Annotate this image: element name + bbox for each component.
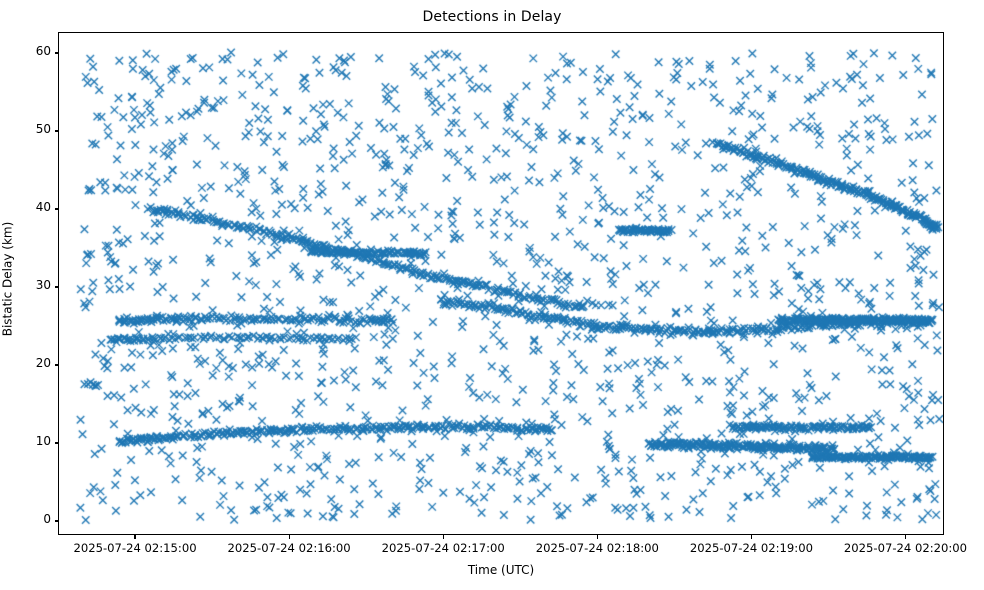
- plot-axes: [58, 32, 944, 535]
- y-tick-mark: [55, 286, 59, 287]
- chart-title: Detections in Delay: [0, 9, 984, 25]
- y-tick-mark: [55, 442, 59, 443]
- x-tick-label: 2025-07-24 02:16:00: [228, 541, 351, 555]
- y-tick-label: 30: [36, 278, 51, 292]
- x-tick-mark: [443, 535, 444, 539]
- x-tick-mark: [751, 535, 752, 539]
- x-tick-label: 2025-07-24 02:20:00: [844, 541, 967, 555]
- x-tick-label: 2025-07-24 02:18:00: [536, 541, 659, 555]
- y-tick-label: 20: [36, 356, 51, 370]
- y-tick-label: 0: [43, 512, 51, 526]
- matplotlib-figure: Detections in Delay 0102030405060 2025-0…: [0, 0, 984, 590]
- x-axis-label: Time (UTC): [58, 563, 944, 577]
- y-tick-label: 10: [36, 434, 51, 448]
- y-tick-mark: [55, 52, 59, 53]
- y-axis-label: Bistatic Delay (km): [1, 28, 15, 531]
- x-tick-label: 2025-07-24 02:15:00: [73, 541, 196, 555]
- x-tick-mark: [905, 535, 906, 539]
- y-tick-label: 50: [36, 122, 51, 136]
- x-tick-label: 2025-07-24 02:19:00: [690, 541, 813, 555]
- x-tick-mark: [289, 535, 290, 539]
- scatter-plot-canvas: [59, 33, 944, 535]
- y-tick-mark: [55, 364, 59, 365]
- y-tick-mark: [55, 130, 59, 131]
- x-tick-label: 2025-07-24 02:17:00: [382, 541, 505, 555]
- x-tick-mark: [134, 535, 135, 539]
- y-tick-label: 40: [36, 200, 51, 214]
- y-tick-label: 60: [36, 44, 51, 58]
- y-tick-mark: [55, 208, 59, 209]
- x-tick-mark: [597, 535, 598, 539]
- y-tick-mark: [55, 520, 59, 521]
